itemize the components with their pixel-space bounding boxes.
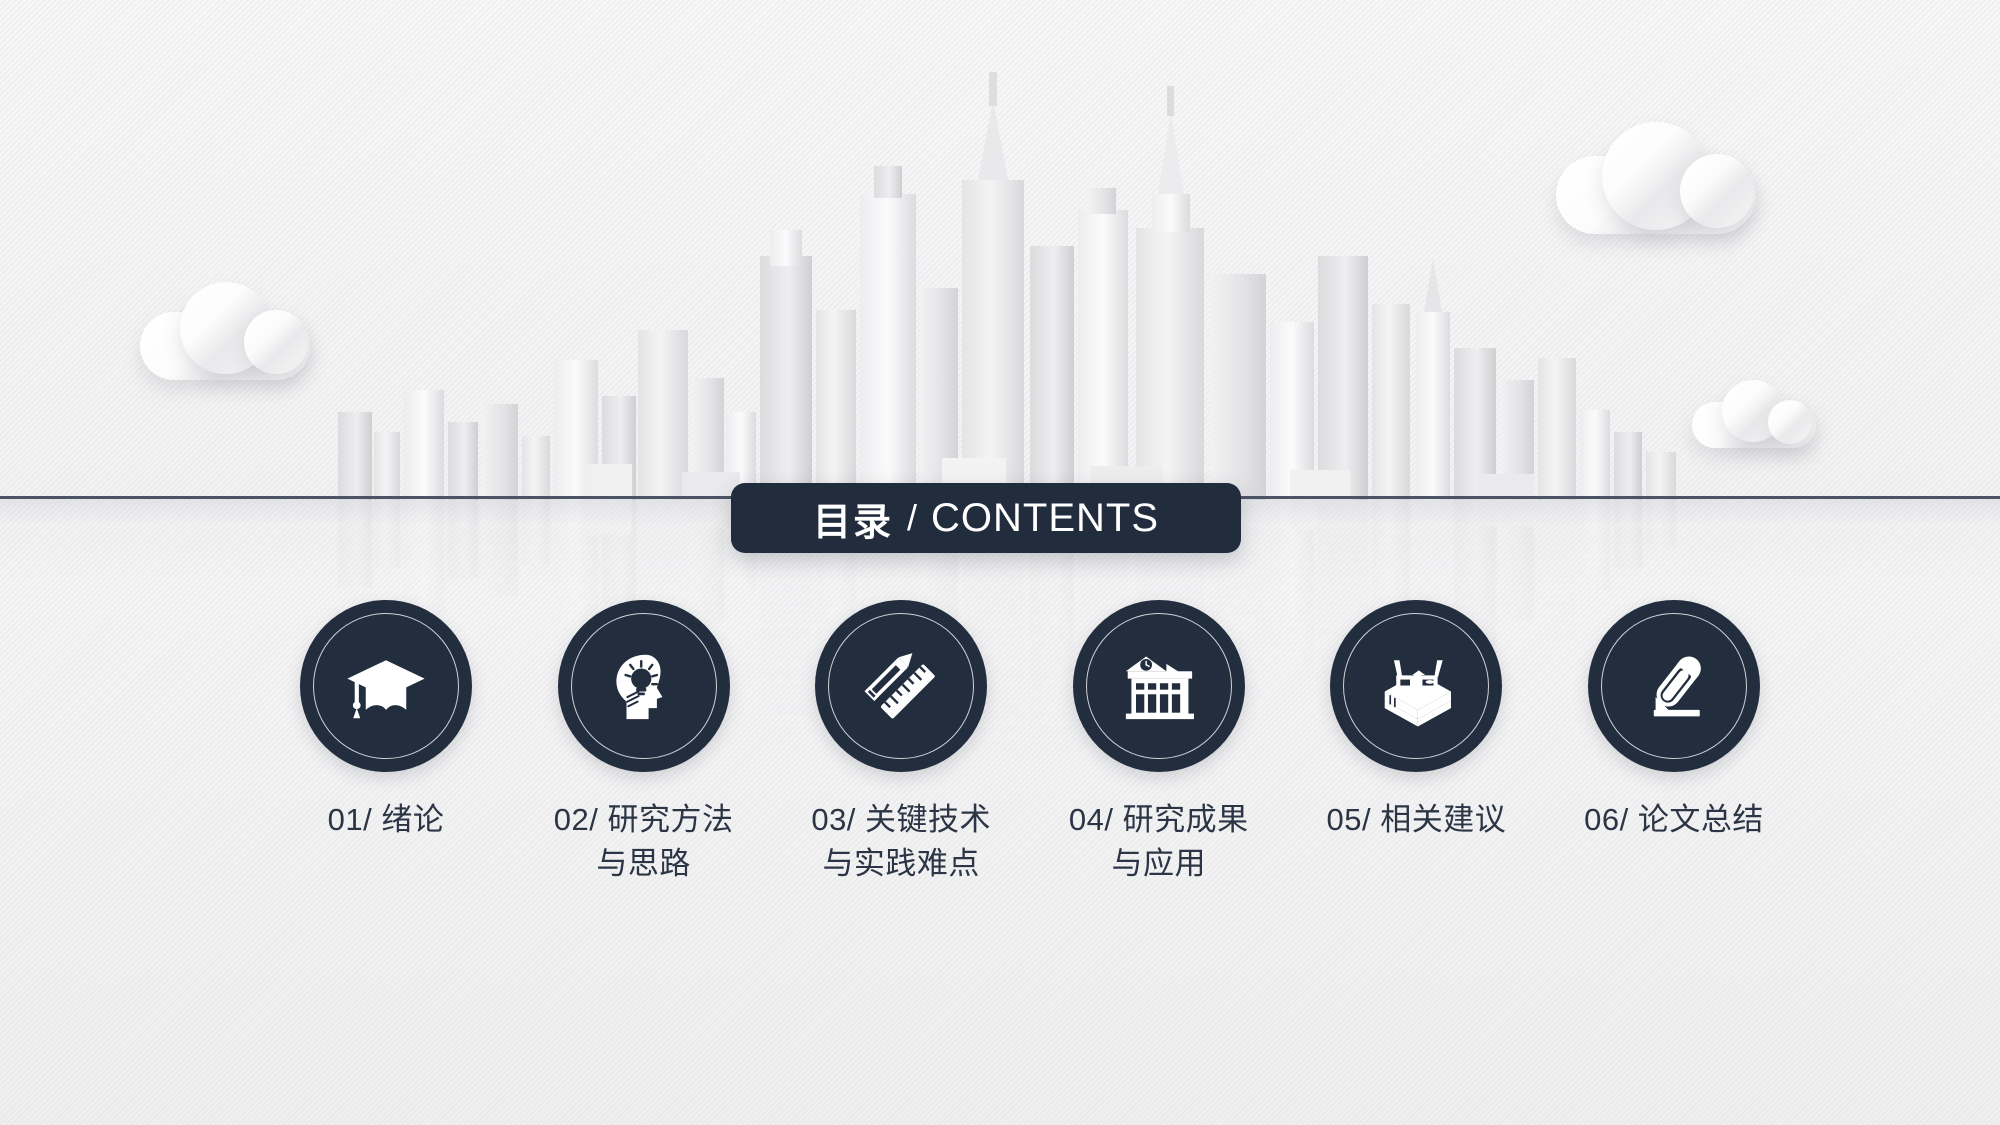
toc-item-04[interactable]: 04/ 研究成果 与应用 [1043, 600, 1275, 886]
toc-icon-circle-01[interactable] [300, 600, 472, 772]
toc-label-03: 03/ 关键技术 与实践难点 [811, 798, 991, 886]
toc-icon-circle-04[interactable] [1073, 600, 1245, 772]
page-title-en: CONTENTS [931, 496, 1159, 541]
contents-title-banner: 目录 / CONTENTS [731, 483, 1241, 553]
pencil-ruler-icon [855, 640, 947, 732]
toc-item-01[interactable]: 01/ 绪论 [270, 600, 502, 842]
title-separator: / [907, 497, 917, 539]
books-glasses-icon [1370, 640, 1462, 732]
head-lightbulb-icon [598, 640, 690, 732]
toc-item-06[interactable]: 06/ 论文总结 [1558, 600, 1790, 842]
toc-label-05: 05/ 相关建议 [1327, 798, 1507, 842]
toc-item-02[interactable]: 02/ 研究方法 与思路 [528, 600, 760, 886]
cloud-left-icon [140, 282, 310, 380]
toc-label-02: 02/ 研究方法 与思路 [554, 798, 734, 886]
toc-icon-circle-06[interactable] [1588, 600, 1760, 772]
toc-icon-circle-03[interactable] [815, 600, 987, 772]
toc-label-06: 06/ 论文总结 [1584, 798, 1764, 842]
cloud-small-icon [1692, 380, 1816, 448]
toc-label-04: 04/ 研究成果 与应用 [1069, 798, 1249, 886]
contents-items-row: 01/ 绪论 [270, 600, 1790, 930]
toc-icon-circle-05[interactable] [1330, 600, 1502, 772]
graduation-cap-icon [340, 640, 432, 732]
city-skyline-image [330, 60, 1690, 500]
toc-label-01: 01/ 绪论 [328, 798, 445, 842]
toc-item-03[interactable]: 03/ 关键技术 与实践难点 [785, 600, 1017, 886]
page-title-cn: 目录 [813, 491, 893, 546]
school-building-icon [1113, 640, 1205, 732]
pencil-writing-icon [1628, 640, 1720, 732]
toc-item-05[interactable]: 05/ 相关建议 [1300, 600, 1532, 842]
presentation-slide: 目录 / CONTENTS 01/ 绪论 [0, 0, 2000, 1125]
toc-icon-circle-02[interactable] [558, 600, 730, 772]
